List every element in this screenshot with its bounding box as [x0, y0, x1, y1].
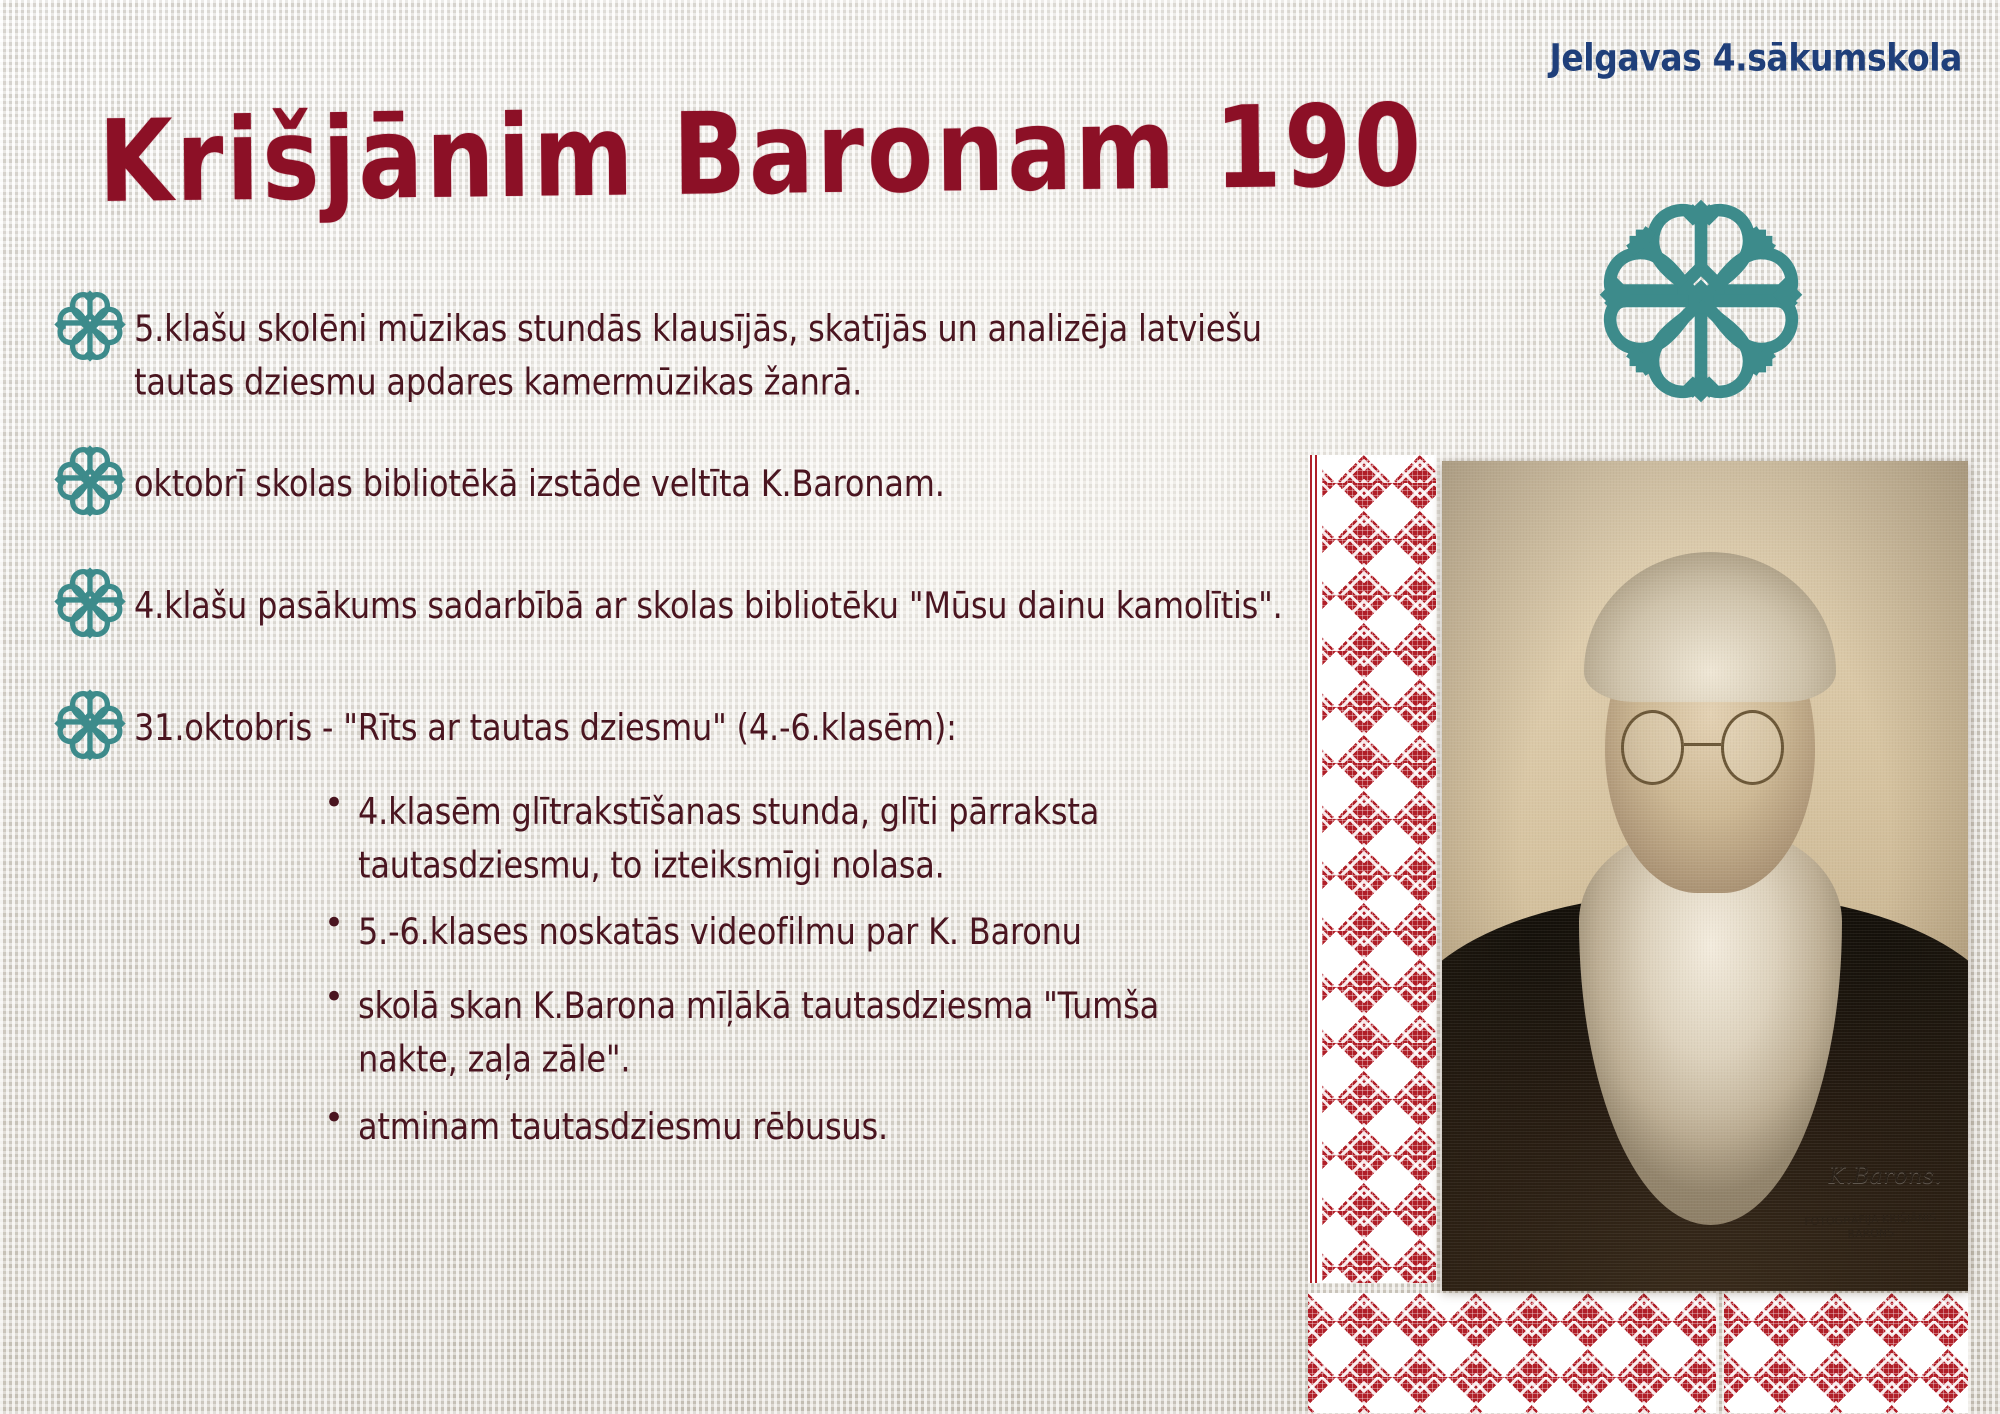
entry-music-lessons: 5.klašu skolēni mūzikas stundās klausījā…: [52, 300, 1292, 397]
latvian-rosette-icon: [52, 687, 128, 763]
entry-october31: 31.oktobris - "Rīts ar tautas dziesmu" (…: [52, 699, 1292, 763]
latvian-weave-border-bottom-right: [1724, 1293, 1968, 1413]
list-item: • 5.-6.klases noskatās videofilmu par K.…: [324, 905, 1224, 952]
page-title: Krišjānim Baronam 190: [98, 80, 1424, 229]
latvian-rosette-icon: [52, 443, 128, 519]
bullet-marker: •: [324, 785, 358, 822]
list-item-text: atminam tautasdziesmu rēbusus.: [358, 1100, 1224, 1154]
latvian-weave-border-vertical: [1308, 455, 1436, 1283]
bullet-marker: •: [324, 905, 358, 942]
photo-studio-stamp: FOTOGRĀFIJA KRIŠJĀNIS BARONS: [1795, 1210, 1947, 1267]
entry-grade4-event: 4.klašu pasākums sadarbībā ar skolas bib…: [52, 577, 1292, 641]
list-item-text: skolā skan K.Barona mīļākā tautasdziesma…: [358, 979, 1224, 1087]
entry-library-exhibition: oktobrī skolas bibliotēkā izstāde veltīt…: [52, 455, 1292, 519]
bullet-list: • 4.klasēm glītrakstīšanas stunda, glīti…: [324, 785, 1224, 1147]
list-item: • 4.klasēm glītrakstīšanas stunda, glīti…: [324, 785, 1224, 880]
list-item-text: 4.klasēm glītrakstīšanas stunda, glīti p…: [358, 785, 1224, 893]
bullet-marker: •: [324, 979, 358, 1016]
latvian-rosette-icon: [1596, 196, 1806, 406]
entry-text: 4.klašu pasākums sadarbībā ar skolas bib…: [134, 577, 1292, 633]
photo-signature: K.Barons.: [1829, 1164, 1942, 1189]
list-item: • atminam tautasdziesmu rēbusus.: [324, 1100, 1224, 1147]
entry-text: 5.klašu skolēni mūzikas stundās klausījā…: [134, 300, 1292, 410]
poster-canvas: Jelgavas 4.sākumskola Krišjānim Baronam …: [0, 0, 2000, 1414]
entry-text: oktobrī skolas bibliotēkā izstāde veltīt…: [134, 455, 1292, 511]
weave-edge-stripes: [1308, 455, 1322, 1283]
bullet-marker: •: [324, 1100, 358, 1137]
latvian-rosette-icon: [52, 288, 128, 364]
photo-panel: K.Barons. FOTOGRĀFIJA KRIŠJĀNIS BARONS: [1308, 455, 1968, 1375]
weave-pattern: [1308, 1293, 1716, 1413]
list-item-text: 5.-6.klases noskatās videofilmu par K. B…: [358, 905, 1224, 959]
school-name-label: Jelgavas 4.sākumskola: [1549, 36, 1962, 80]
entry-text: 31.oktobris - "Rīts ar tautas dziesmu" (…: [134, 699, 1292, 755]
latvian-weave-border-bottom-left: [1308, 1293, 1716, 1413]
latvian-rosette-icon: [52, 565, 128, 641]
content-column: 5.klašu skolēni mūzikas stundās klausījā…: [52, 300, 1292, 1173]
weave-pattern: [1308, 455, 1436, 1283]
krisjanis-barons-portrait: K.Barons. FOTOGRĀFIJA KRIŠJĀNIS BARONS: [1442, 461, 1968, 1291]
list-item: • skolā skan K.Barona mīļākā tautasdzies…: [324, 979, 1224, 1074]
weave-pattern: [1724, 1293, 1968, 1413]
